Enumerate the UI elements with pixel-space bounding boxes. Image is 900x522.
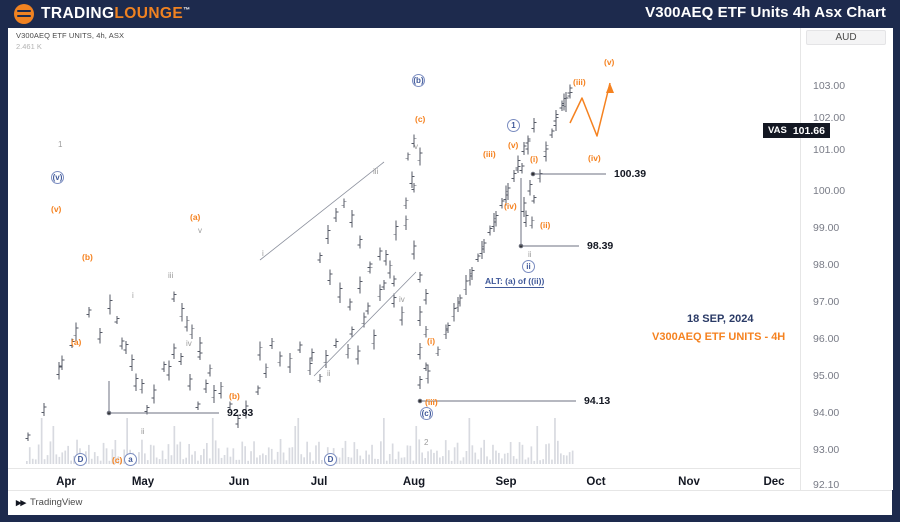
wave-label-orange: (a) bbox=[71, 338, 81, 347]
brand-word-1: TRADING bbox=[41, 5, 114, 22]
brand-word-2: LOUNGE bbox=[114, 5, 183, 22]
time-tick: May bbox=[132, 476, 154, 488]
trend-channel bbox=[260, 162, 416, 376]
price-series-svg bbox=[14, 28, 800, 468]
time-tick: Apr bbox=[56, 476, 76, 488]
wave-label-gray: 2 bbox=[424, 439, 428, 447]
wave-label-orange: (c) bbox=[415, 115, 425, 124]
price-tick: 98.00 bbox=[813, 259, 839, 271]
note-date: 18 SEP, 2024 bbox=[687, 313, 753, 325]
wave-label-orange: (b) bbox=[82, 253, 93, 262]
wave-label-orange: (v) bbox=[604, 58, 614, 67]
wave-label-orange: (iii) bbox=[425, 398, 438, 407]
session-marker-D: D bbox=[74, 453, 87, 466]
price-tick: 97.00 bbox=[813, 296, 839, 308]
time-tick: Nov bbox=[678, 476, 700, 488]
session-marker-a: a bbox=[124, 453, 137, 466]
wave-label-orange: (i) bbox=[530, 155, 538, 164]
wave-label-gray: 1 bbox=[58, 141, 62, 149]
wave-projection-path bbox=[570, 83, 614, 136]
wave-label-gray: iii bbox=[168, 272, 173, 280]
wave-label-gray: ii bbox=[327, 370, 331, 378]
wave-label-gray: v bbox=[414, 143, 418, 151]
wave-label-gray: i bbox=[132, 292, 134, 300]
wave-label-orange: (v) bbox=[508, 141, 518, 150]
wave-label-orange: (iii) bbox=[483, 150, 496, 159]
price-tick: 103.00 bbox=[813, 80, 845, 92]
price-tick: 95.00 bbox=[813, 370, 839, 382]
session-marker-D: D bbox=[324, 453, 337, 466]
wave-label-orange: (a) bbox=[190, 213, 200, 222]
price-tick: 100.00 bbox=[813, 185, 845, 197]
tradingview-label: TradingView bbox=[30, 497, 82, 508]
price-tick: 96.00 bbox=[813, 333, 839, 345]
price-scale[interactable]: AUD 103.00 102.00 101.00 100.00 99.00 98… bbox=[800, 28, 893, 490]
wave-label-orange: (iii) bbox=[573, 78, 586, 87]
wave-label-orange: (b) bbox=[229, 392, 240, 401]
wave-label-gray: i bbox=[262, 250, 264, 258]
currency-chip[interactable]: AUD bbox=[806, 30, 886, 45]
chart-footer: ▸▸ TradingView bbox=[8, 490, 892, 515]
time-tick: Oct bbox=[586, 476, 605, 488]
page-title: V300AEQ ETF Units 4h Asx Chart bbox=[645, 4, 886, 21]
wave-label-gray: ii bbox=[141, 428, 145, 436]
plot-area[interactable]: (v) (b) (a) (a) (b) (c) (iii) (v) (i) (i… bbox=[14, 28, 800, 468]
brand-logo: TRADINGLOUNGE™ bbox=[14, 3, 191, 25]
wave-label-orange: (c) bbox=[112, 456, 122, 465]
wave-label-orange: (ii) bbox=[540, 221, 550, 230]
tradingview-chart-screenshot: TRADINGLOUNGE™ V300AEQ ETF Units 4h Asx … bbox=[0, 0, 900, 522]
price-tick: 101.00 bbox=[813, 144, 845, 156]
price-level-98-39: 98.39 bbox=[587, 240, 613, 252]
wave-label-gray: iv bbox=[186, 340, 192, 348]
trading-lounge-logo-icon bbox=[14, 4, 34, 24]
brand-trademark: ™ bbox=[183, 7, 190, 14]
last-price-ticker-tag: VAS bbox=[768, 125, 793, 136]
time-tick: Dec bbox=[763, 476, 784, 488]
price-tick: 94.00 bbox=[813, 407, 839, 419]
wave-label-orange: (v) bbox=[51, 205, 61, 214]
wave-degree-circle-ii: ii bbox=[522, 260, 535, 273]
wave-label-orange: (iv) bbox=[504, 202, 517, 211]
price-level-100-39: 100.39 bbox=[614, 168, 646, 180]
time-tick: Sep bbox=[495, 476, 516, 488]
wave-label-gray: ii bbox=[528, 251, 532, 259]
alt-count-annotation: ALT: (a) of ((ii)) bbox=[485, 276, 544, 288]
price-level-94-13: 94.13 bbox=[584, 395, 610, 407]
time-tick: Aug bbox=[403, 476, 425, 488]
price-level-92-93: 92.93 bbox=[227, 407, 253, 419]
wave-degree-circle: (b) bbox=[412, 74, 425, 87]
wave-label-gray: v bbox=[198, 227, 202, 235]
price-level-rays bbox=[107, 172, 606, 415]
app-header: TRADINGLOUNGE™ V300AEQ ETF Units 4h Asx … bbox=[0, 0, 900, 28]
time-tick: Jun bbox=[229, 476, 249, 488]
price-tick: 99.00 bbox=[813, 222, 839, 234]
tradingview-attribution[interactable]: ▸▸ TradingView bbox=[16, 496, 82, 509]
wave-label-gray: iii bbox=[373, 168, 378, 176]
last-price-value: 101.66 bbox=[793, 125, 825, 137]
price-tick: 93.00 bbox=[813, 444, 839, 456]
wave-label-orange: (i) bbox=[427, 337, 435, 346]
wave-label-gray: iv bbox=[399, 296, 405, 304]
tradingview-logo-icon: ▸▸ bbox=[16, 496, 25, 509]
wave-label-orange: (iv) bbox=[588, 154, 601, 163]
wave-degree-circle: (c) bbox=[420, 407, 433, 420]
note-symbol: V300AEQ ETF UNITS - 4H bbox=[652, 331, 785, 343]
wave-degree-circle: (v) bbox=[51, 171, 64, 184]
time-tick: Jul bbox=[311, 476, 328, 488]
chart-panel: V300AEQ ETF UNITS, 4h, ASX 2.461 K bbox=[8, 28, 892, 490]
last-price-badge: VAS 101.66 bbox=[763, 123, 830, 138]
brand-logo-text: TRADINGLOUNGE™ bbox=[41, 5, 191, 23]
wave-degree-circle: 1 bbox=[507, 119, 520, 132]
